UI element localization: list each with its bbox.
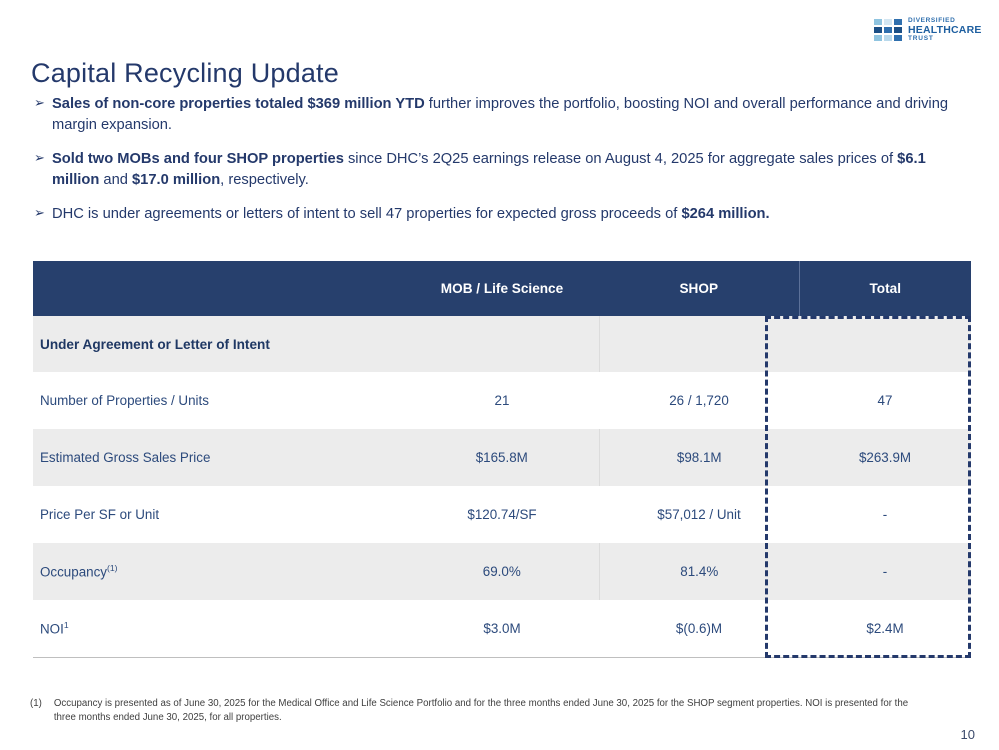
- row-label-text: Number of Properties / Units: [40, 393, 209, 408]
- bullet-text: DHC is under agreements or letters of in…: [52, 204, 964, 225]
- logo-wordmark: DIVERSIFIED HEALTHCARE TRUST: [908, 18, 982, 43]
- column-header-blank: [33, 261, 405, 316]
- page-number: 10: [961, 727, 975, 742]
- row-label: Number of Properties / Units: [33, 372, 405, 429]
- bullet-run: , respectively.: [220, 172, 309, 188]
- capital-recycling-table-wrapper: MOB / Life Science SHOP Total Under Agre…: [33, 261, 971, 658]
- bullet-arrow-icon: ➢: [34, 94, 52, 112]
- cell-shop: [599, 316, 799, 372]
- bullet-emphasis: Sold two MOBs and four SHOP properties: [52, 151, 344, 167]
- cell-mob: 69.0%: [405, 543, 599, 600]
- table-header: MOB / Life Science SHOP Total: [33, 261, 971, 316]
- cell-mob: $3.0M: [405, 600, 599, 658]
- logo-grid-icon: [874, 19, 902, 41]
- page-title: Capital Recycling Update: [31, 58, 339, 89]
- cell-shop: $98.1M: [599, 429, 799, 486]
- table-row: NOI1$3.0M$(0.6)M$2.4M: [33, 600, 971, 658]
- row-label: NOI1: [33, 600, 405, 658]
- table-header-row: MOB / Life Science SHOP Total: [33, 261, 971, 316]
- bullet-run: DHC is under agreements or letters of in…: [52, 206, 681, 222]
- bullet-arrow-icon: ➢: [34, 149, 52, 167]
- row-label-text: Occupancy: [40, 565, 107, 580]
- table-row: Estimated Gross Sales Price$165.8M$98.1M…: [33, 429, 971, 486]
- table-row: Number of Properties / Units2126 / 1,720…: [33, 372, 971, 429]
- bullet-emphasis: $17.0 million: [132, 172, 220, 188]
- bullet-text: Sales of non-core properties totaled $36…: [52, 94, 964, 136]
- column-header-shop: SHOP: [599, 261, 799, 316]
- row-label: Estimated Gross Sales Price: [33, 429, 405, 486]
- cell-mob: [405, 316, 599, 372]
- row-label-text: Price Per SF or Unit: [40, 507, 159, 522]
- logo-tile-8: [884, 35, 892, 41]
- cell-total: -: [799, 543, 971, 600]
- row-label-text: NOI: [40, 622, 64, 637]
- logo-tile-4: [874, 27, 882, 33]
- bullet-emphasis: Sales of non-core properties totaled $36…: [52, 96, 425, 112]
- cell-total: $2.4M: [799, 600, 971, 658]
- column-header-mob-life-science: MOB / Life Science: [405, 261, 599, 316]
- cell-total: $263.9M: [799, 429, 971, 486]
- row-label-text: Under Agreement or Letter of Intent: [40, 337, 270, 352]
- bullet-run: since DHC’s 2Q25 earnings release on Aug…: [344, 151, 897, 167]
- logo-tile-1: [874, 19, 882, 25]
- column-header-total: Total: [799, 261, 971, 316]
- bullet-arrow-icon: ➢: [34, 204, 52, 222]
- cell-total: [799, 316, 971, 372]
- table-section-row: Under Agreement or Letter of Intent: [33, 316, 971, 372]
- row-label-footnote-marker: (1): [107, 563, 118, 573]
- logo-tile-6: [894, 27, 902, 33]
- cell-shop: $(0.6)M: [599, 600, 799, 658]
- bullet-item: ➢Sales of non-core properties totaled $3…: [34, 94, 964, 136]
- row-label-footnote-marker: 1: [64, 620, 69, 630]
- bullet-text: Sold two MOBs and four SHOP properties s…: [52, 149, 964, 191]
- logo-tile-5: [884, 27, 892, 33]
- bullet-emphasis: $264 million.: [681, 206, 769, 222]
- cell-shop: 26 / 1,720: [599, 372, 799, 429]
- footnote-text: Occupancy is presented as of June 30, 20…: [54, 697, 910, 725]
- cell-shop: 81.4%: [599, 543, 799, 600]
- cell-total: 47: [799, 372, 971, 429]
- cell-shop: $57,012 / Unit: [599, 486, 799, 543]
- row-label: Price Per SF or Unit: [33, 486, 405, 543]
- table-row: Occupancy(1)69.0%81.4%-: [33, 543, 971, 600]
- row-label: Under Agreement or Letter of Intent: [33, 316, 405, 372]
- cell-total: -: [799, 486, 971, 543]
- logo-tile-9: [894, 35, 902, 41]
- row-label: Occupancy(1): [33, 543, 405, 600]
- bullet-item: ➢Sold two MOBs and four SHOP properties …: [34, 149, 964, 191]
- footnote: (1) Occupancy is presented as of June 30…: [30, 697, 910, 725]
- row-label-text: Estimated Gross Sales Price: [40, 450, 210, 465]
- bullet-list: ➢Sales of non-core properties totaled $3…: [34, 94, 964, 237]
- cell-mob: $165.8M: [405, 429, 599, 486]
- logo-line-3: TRUST: [908, 36, 982, 43]
- cell-mob: 21: [405, 372, 599, 429]
- company-logo: DIVERSIFIED HEALTHCARE TRUST: [874, 18, 982, 43]
- logo-tile-7: [874, 35, 882, 41]
- table-row: Price Per SF or Unit$120.74/SF$57,012 / …: [33, 486, 971, 543]
- cell-mob: $120.74/SF: [405, 486, 599, 543]
- table-body: Under Agreement or Letter of IntentNumbe…: [33, 316, 971, 658]
- bullet-run: and: [99, 172, 132, 188]
- logo-tile-3: [894, 19, 902, 25]
- footnote-number: (1): [30, 697, 42, 725]
- capital-recycling-table: MOB / Life Science SHOP Total Under Agre…: [33, 261, 971, 658]
- bullet-item: ➢DHC is under agreements or letters of i…: [34, 204, 964, 225]
- logo-tile-2: [884, 19, 892, 25]
